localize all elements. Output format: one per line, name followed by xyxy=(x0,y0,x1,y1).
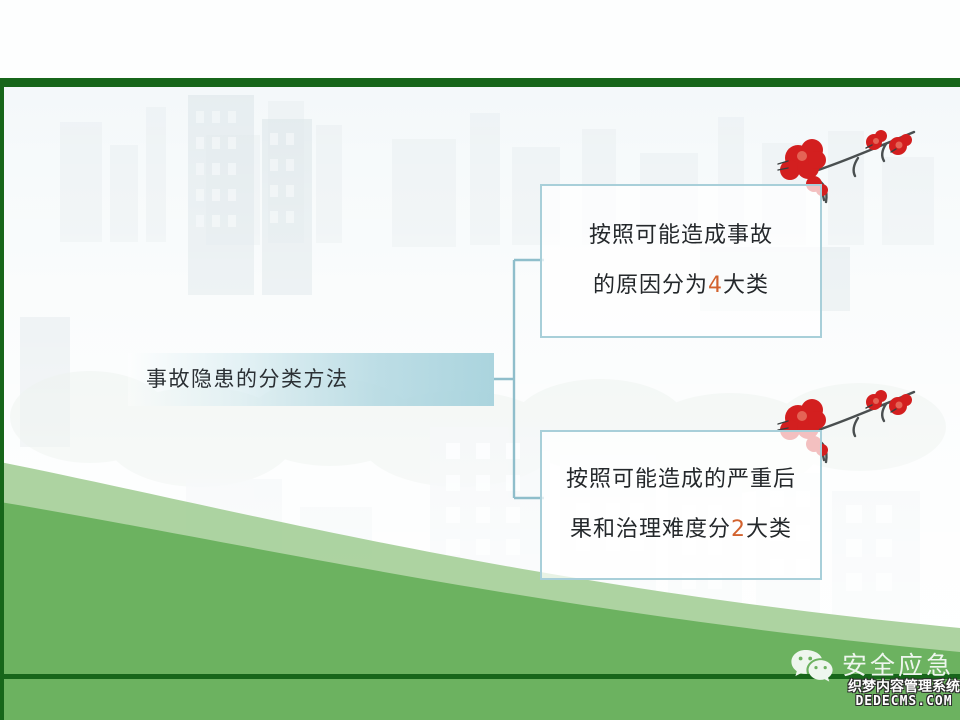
branch-line-2-suffix: 大类 xyxy=(723,273,769,298)
branch-count-number: 2 xyxy=(731,517,746,542)
branch-line-2: 果和治理难度分2大类 xyxy=(570,518,792,542)
site-watermark-cn: 织梦内容管理系统 xyxy=(848,680,960,695)
site-watermark: 织梦内容管理系统 DEDECMS.COM xyxy=(848,680,960,708)
wechat-account-name: 安全应急 xyxy=(842,653,954,678)
presentation-slide: 事故隐患的分类方法 按照可能造成事故 的原因分为4大类 按照可能造成的严重后 果… xyxy=(0,0,960,720)
branch-count-number: 4 xyxy=(708,273,723,298)
top-green-rule xyxy=(0,78,960,87)
branch-line-2-suffix: 大类 xyxy=(746,517,792,542)
diagram-branch-node-by-consequence[interactable]: 按照可能造成的严重后 果和治理难度分2大类 xyxy=(540,430,822,580)
left-green-rule xyxy=(0,78,4,720)
top-white-band xyxy=(0,0,960,78)
site-watermark-en: DEDECMS.COM xyxy=(848,695,960,709)
wechat-account-watermark: 安全应急 xyxy=(790,648,954,682)
branch-line-1: 按照可能造成事故 xyxy=(589,224,773,248)
wechat-icon xyxy=(790,648,834,682)
branch-line-2-prefix: 的原因分为 xyxy=(593,273,708,298)
branch-line-2-prefix: 果和治理难度分 xyxy=(570,517,731,542)
diagram-branch-node-by-cause[interactable]: 按照可能造成事故 的原因分为4大类 xyxy=(540,184,822,338)
diagram-root-node[interactable]: 事故隐患的分类方法 xyxy=(128,353,494,406)
branch-line-2: 的原因分为4大类 xyxy=(593,274,769,298)
branch-line-1: 按照可能造成的严重后 xyxy=(566,468,796,492)
diagram-root-label: 事故隐患的分类方法 xyxy=(128,367,349,392)
